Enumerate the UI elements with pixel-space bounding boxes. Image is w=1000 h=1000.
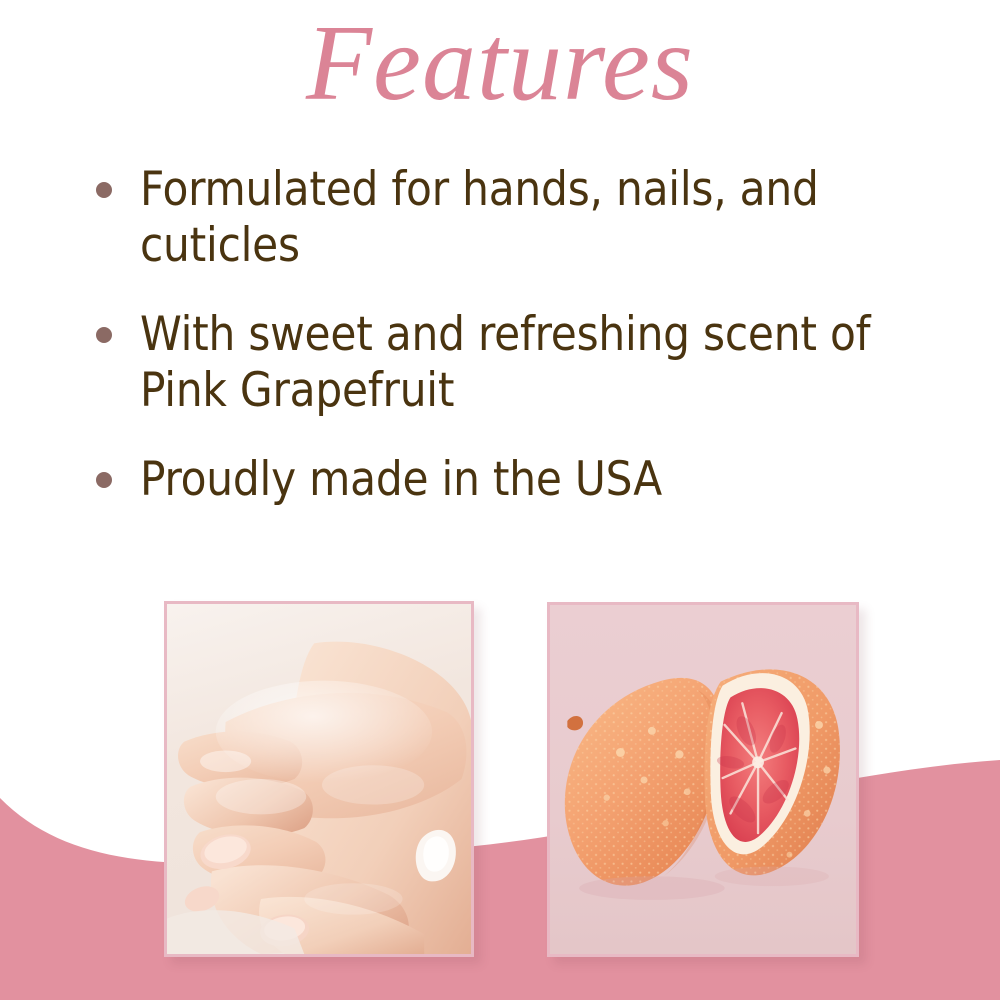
list-item: Proudly made in the USA	[88, 452, 878, 508]
feature-label: With sweet and refreshing scent of Pink …	[140, 307, 878, 420]
features-list: Formulated for hands, nails, and cuticle…	[88, 162, 878, 508]
list-item: With sweet and refreshing scent of Pink …	[88, 307, 878, 420]
feature-label: Proudly made in the USA	[140, 452, 878, 508]
page-title: Features	[0, 6, 1000, 123]
bullet-dot-icon	[96, 327, 112, 343]
photo-pink-grapefruit	[547, 602, 859, 957]
feature-panel: Features Formulated for hands, nails, an…	[0, 0, 1000, 1000]
bullet-dot-icon	[96, 472, 112, 488]
bullet-dot-icon	[96, 182, 112, 198]
photo-hands-with-lotion	[164, 601, 474, 957]
list-item: Formulated for hands, nails, and cuticle…	[88, 162, 878, 275]
feature-label: Formulated for hands, nails, and cuticle…	[140, 162, 878, 275]
